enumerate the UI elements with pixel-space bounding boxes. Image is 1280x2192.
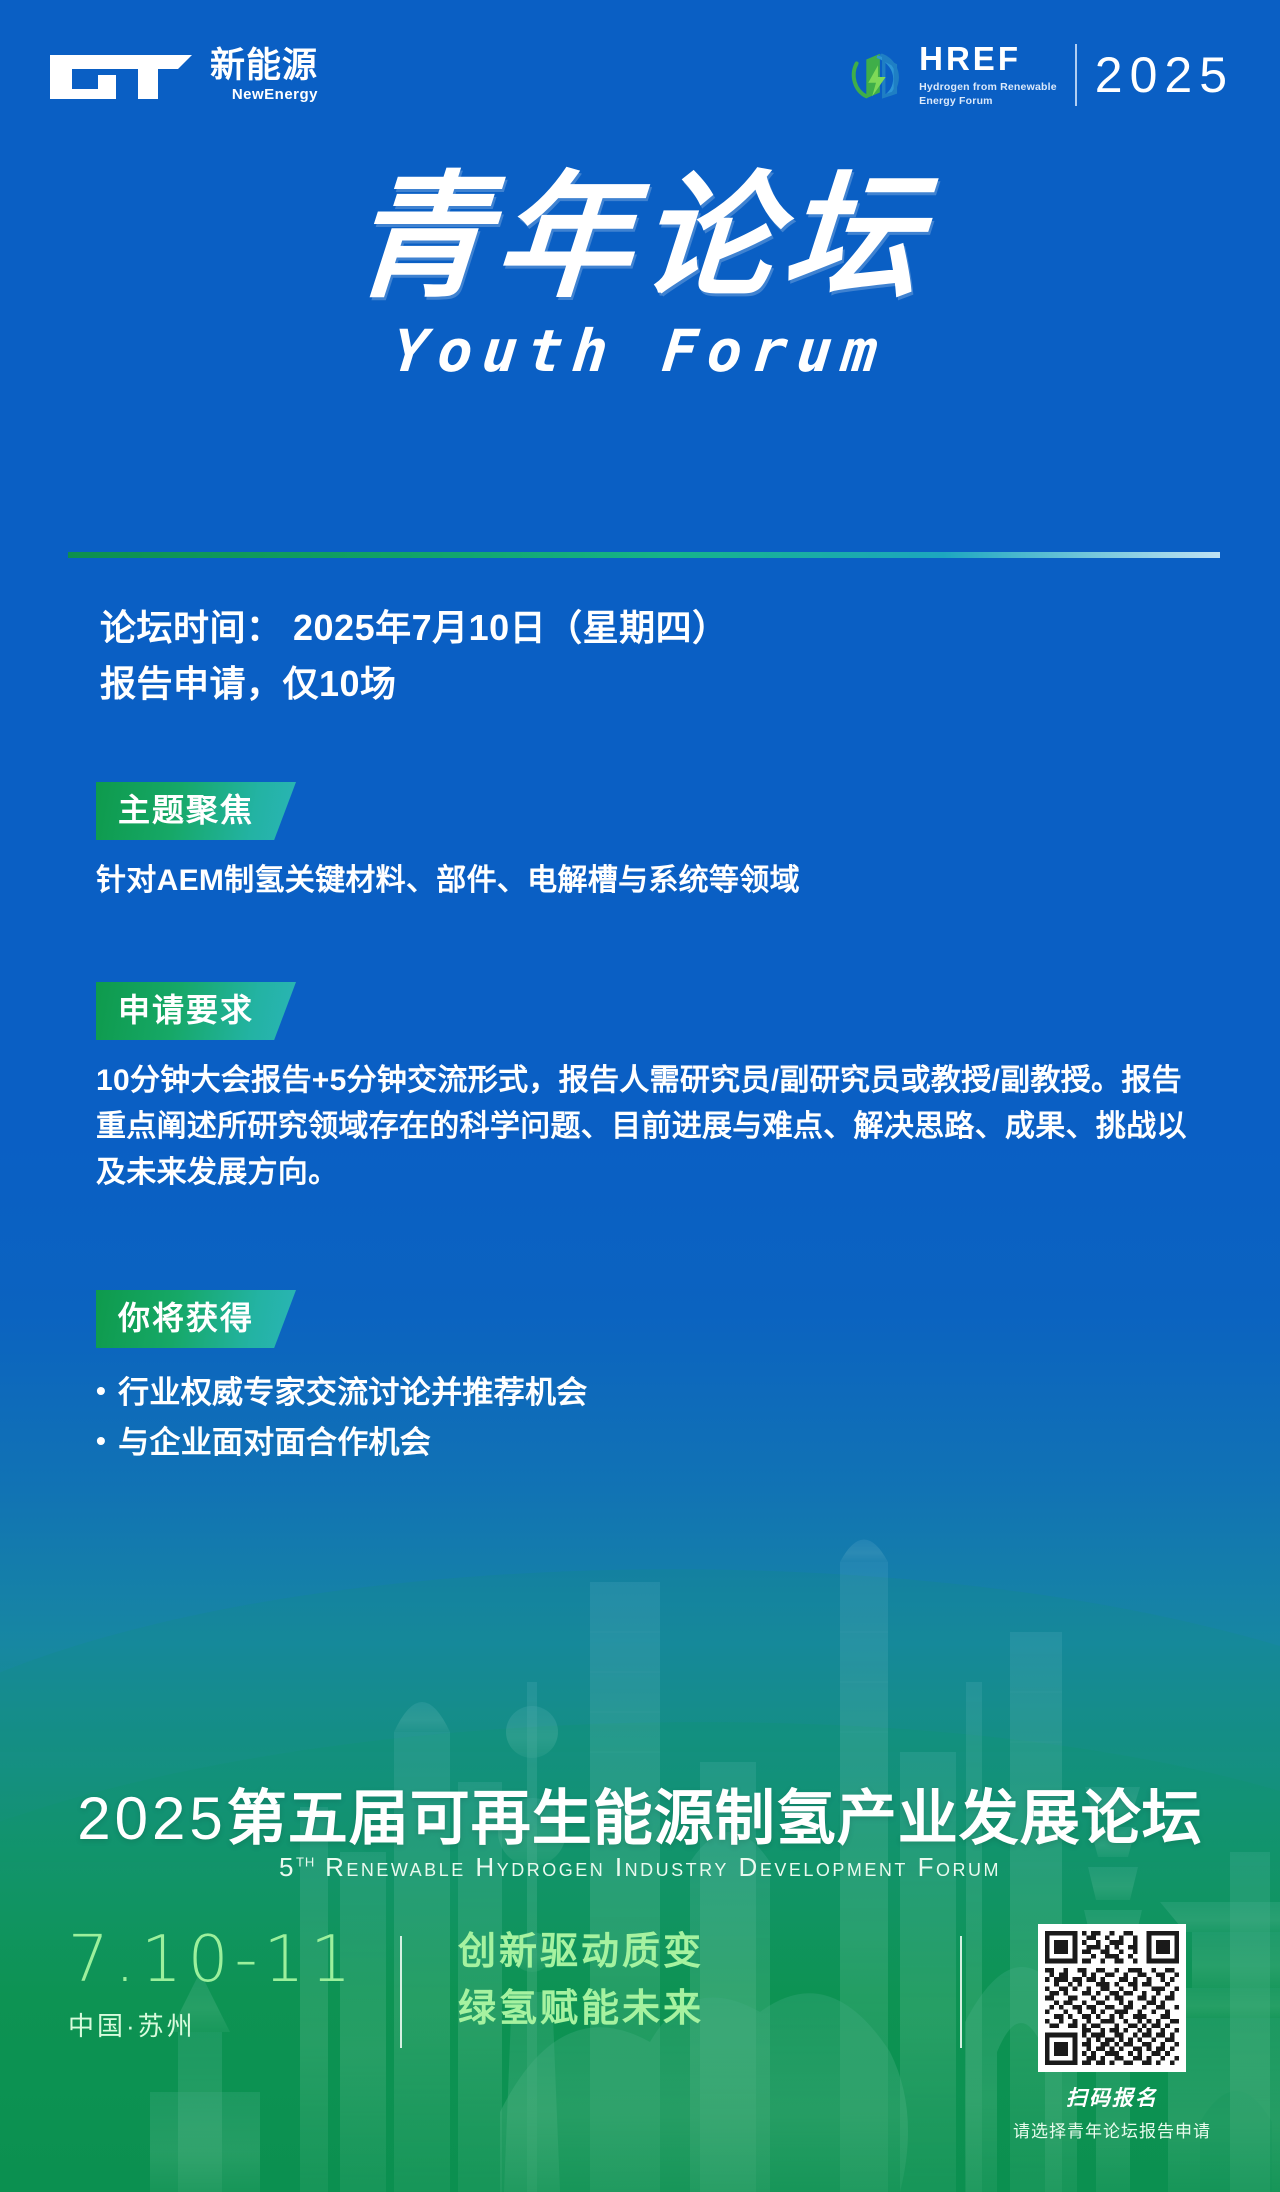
main-title-cn: 青年论坛 [0,168,1280,309]
list-item: • 行业权威专家交流讨论并推荐机会 [96,1368,1210,1418]
href-logo: HREF Hydrogen from Renewable Energy Foru… [845,42,1057,108]
footer-divider-right [960,1936,962,2048]
poster-root: 新能源 NewEnergy HREF Hydrogen from Renewab… [0,0,1280,2192]
section-text-theme-focus: 针对AEM制氢关键材料、部件、电解槽与系统等领域 [96,858,1210,904]
section-what-you-gain: 你将获得 • 行业权威专家交流讨论并推荐机会 • 与企业面对面合作机会 [96,1290,1210,1468]
benefits-list: • 行业权威专家交流讨论并推荐机会 • 与企业面对面合作机会 [96,1368,1210,1467]
footer-title-cn: 第五届可再生能源制氢产业发展论坛 [227,1785,1203,1852]
bullet-marker-icon: • [96,1368,106,1413]
section-theme-focus: 主题聚焦 针对AEM制氢关键材料、部件、电解槽与系统等领域 [96,782,1210,904]
header-divider [1075,44,1077,106]
list-item: • 与企业面对面合作机会 [96,1418,1210,1468]
section-badge-what-you-gain: 你将获得 [96,1290,296,1348]
background-wave-upper [0,1452,1280,1752]
qr-code-icon [1045,1931,1179,2065]
footer-slogan-line2: 绿氢赋能未来 [458,1981,960,2038]
main-title-en: Youth Forum [0,317,1280,385]
registration-qr-code[interactable] [1038,1924,1186,2072]
forum-time-line1: 论坛时间： 2025年7月10日（星期四） [100,600,729,656]
dt-monogram-icon [46,47,196,103]
section-badge-application-requirements: 申请要求 [96,982,296,1040]
footer-slogan-line1: 创新驱动质变 [458,1924,960,1981]
dt-new-energy-logo: 新能源 NewEnergy [46,47,318,103]
footer-slogan-block: 创新驱动质变 绿氢赋能未来 [402,1924,960,2038]
forum-time-block: 论坛时间： 2025年7月10日（星期四） 报告申请，仅10场 [100,600,729,712]
href-logo-name: HREF [919,42,1057,75]
section-badge-theme-focus: 主题聚焦 [96,782,296,840]
footer-divider-left [400,1936,402,2048]
href-sub-line1: Hydrogen from Renewable [919,81,1057,93]
benefit-label: 行业权威专家交流讨论并推荐机会 [118,1368,588,1418]
footer-title-year: 2025 [77,1785,226,1852]
footer-ordinal-suffix: TH [296,1854,315,1869]
poster-header: 新能源 NewEnergy HREF Hydrogen from Renewab… [0,0,1280,150]
header-year: 2025 [1095,46,1234,104]
href-sub-line2: Energy Forum [919,95,993,107]
footer-forum-title: 2025第五届可再生能源制氢产业发展论坛 [0,1770,1280,1857]
qr-caption-primary: 扫码报名 [1066,2082,1158,2112]
footer-city: 中国·苏州 [68,2006,400,2043]
poster-footer: 2025第五届可再生能源制氢产业发展论坛 5TH Renewable Hydro… [0,1742,1280,2192]
dt-logo-en: NewEnergy [210,87,318,102]
href-logo-subtitle: Hydrogen from Renewable Energy Forum [919,80,1057,108]
section-text-application-requirements: 10分钟大会报告+5分钟交流形式，报告人需研究员/副研究员或教授/副教授。报告重… [96,1058,1210,1195]
footer-subtitle-text: Renewable Hydrogen Industry Development … [325,1852,1001,1882]
footer-date-block: 7.10-11 中国·苏州 [0,1924,400,2043]
footer-date: 7.10-11 [68,1924,400,1998]
href-leaf-bolt-icon [845,44,907,106]
dt-logo-cn: 新能源 [210,48,318,83]
main-title-zone: 青年论坛 Youth Forum [0,168,1280,385]
footer-qr-block: 扫码报名 请选择青年论坛报告申请 [962,1924,1262,2142]
title-divider-rule [68,552,1220,558]
qr-caption-secondary: 请选择青年论坛报告申请 [1013,2117,1211,2142]
forum-time-line2: 报告申请，仅10场 [100,656,729,712]
benefit-label: 与企业面对面合作机会 [118,1418,431,1468]
bullet-marker-icon: • [96,1418,106,1463]
footer-forum-subtitle-en: 5TH Renewable Hydrogen Industry Developm… [0,1852,1280,1883]
footer-ordinal: 5 [279,1852,296,1882]
href-brand-block: HREF Hydrogen from Renewable Energy Foru… [845,42,1234,108]
section-application-requirements: 申请要求 10分钟大会报告+5分钟交流形式，报告人需研究员/副研究员或教授/副教… [96,982,1210,1195]
footer-info-row: 7.10-11 中国·苏州 创新驱动质变 绿氢赋能未来 [0,1924,1280,2124]
